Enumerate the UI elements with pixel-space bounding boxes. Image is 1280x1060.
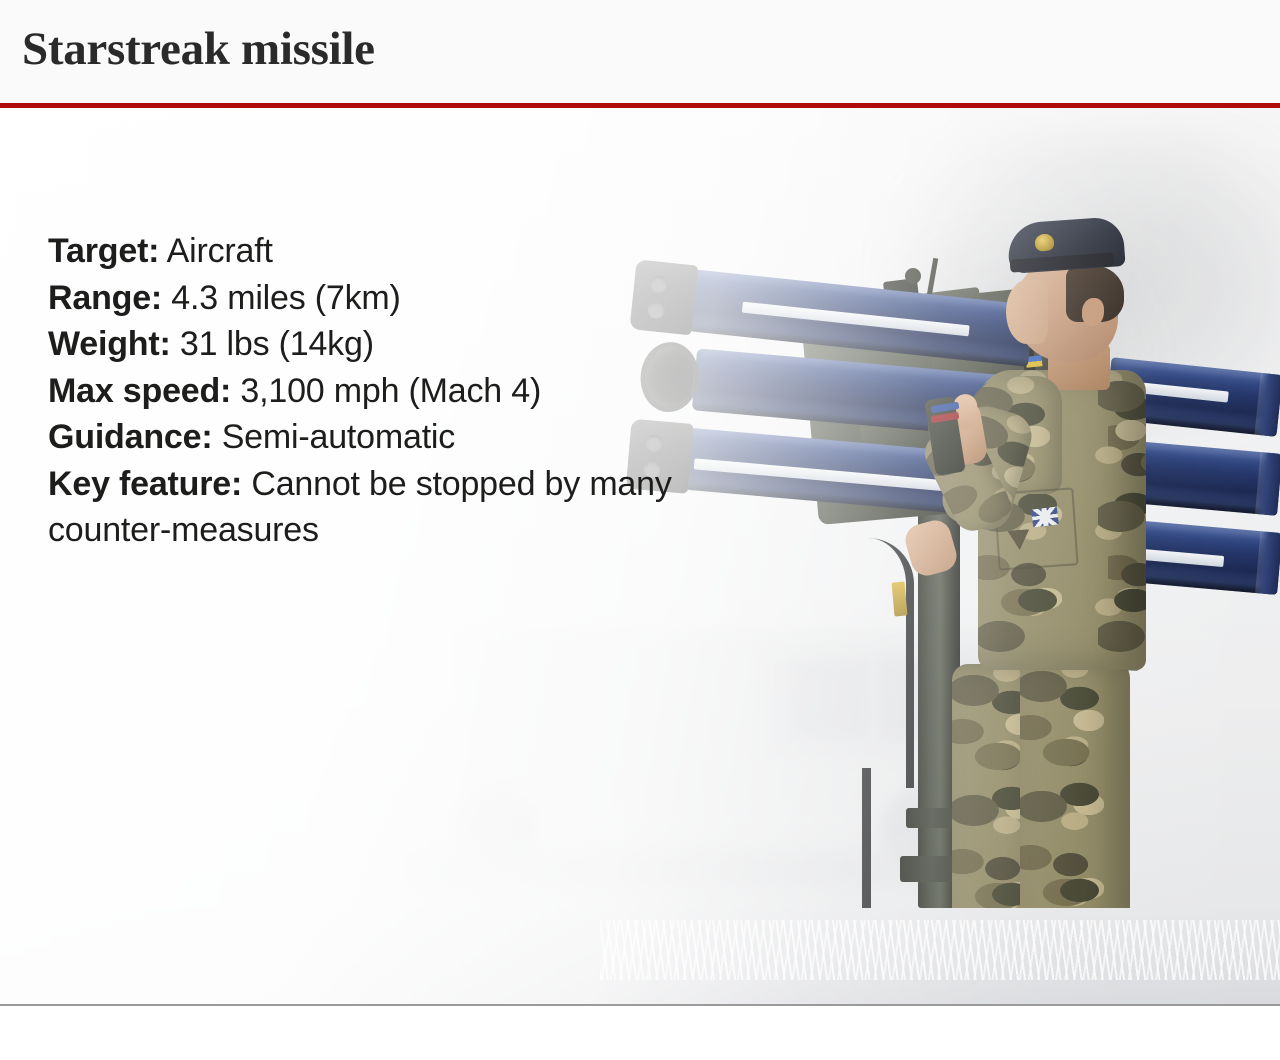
spec-label: Weight: <box>48 325 171 363</box>
soldier-ear <box>1082 298 1104 326</box>
foreground-grass-tufts <box>600 920 1280 980</box>
footer: Source: BBC research, Thales, Getty Imag… <box>0 1006 1280 1060</box>
spec-label: Target: <box>48 232 159 270</box>
spec-line: Guidance: Semi-automatic <box>48 414 748 461</box>
spec-label: Guidance: <box>48 418 212 456</box>
spec-line: Target: Aircraft <box>48 228 748 275</box>
spec-value: Aircraft <box>159 232 272 270</box>
spec-label: Range: <box>48 279 162 317</box>
spec-line: Max speed: 3,100 mph (Mach 4) <box>48 368 748 415</box>
spec-line: Range: 4.3 miles (7km) <box>48 275 748 322</box>
spec-list: Target: AircraftRange: 4.3 miles (7km)We… <box>48 228 748 554</box>
spec-value: 4.3 miles (7km) <box>162 279 401 317</box>
soldier-hand-lower <box>902 517 961 580</box>
union-flag-patch-icon <box>1031 506 1059 527</box>
spec-value: 31 lbs (14kg) <box>171 325 374 363</box>
soldier-face-profile <box>1006 280 1048 344</box>
header: Starstreak missile <box>0 0 1280 105</box>
spec-label: Max speed: <box>48 372 231 410</box>
spec-value: 3,100 mph (Mach 4) <box>231 372 541 410</box>
spec-value: Semi-automatic <box>212 418 455 456</box>
infographic-page: Starstreak missile <box>0 0 1280 1060</box>
page-title: Starstreak missile <box>22 22 375 76</box>
photo-canvas: Target: AircraftRange: 4.3 miles (7km)We… <box>0 108 1280 1005</box>
spec-line: Key feature: Cannot be stopped by many c… <box>48 461 748 554</box>
spec-label: Key feature: <box>48 465 242 503</box>
spec-line: Weight: 31 lbs (14kg) <box>48 321 748 368</box>
